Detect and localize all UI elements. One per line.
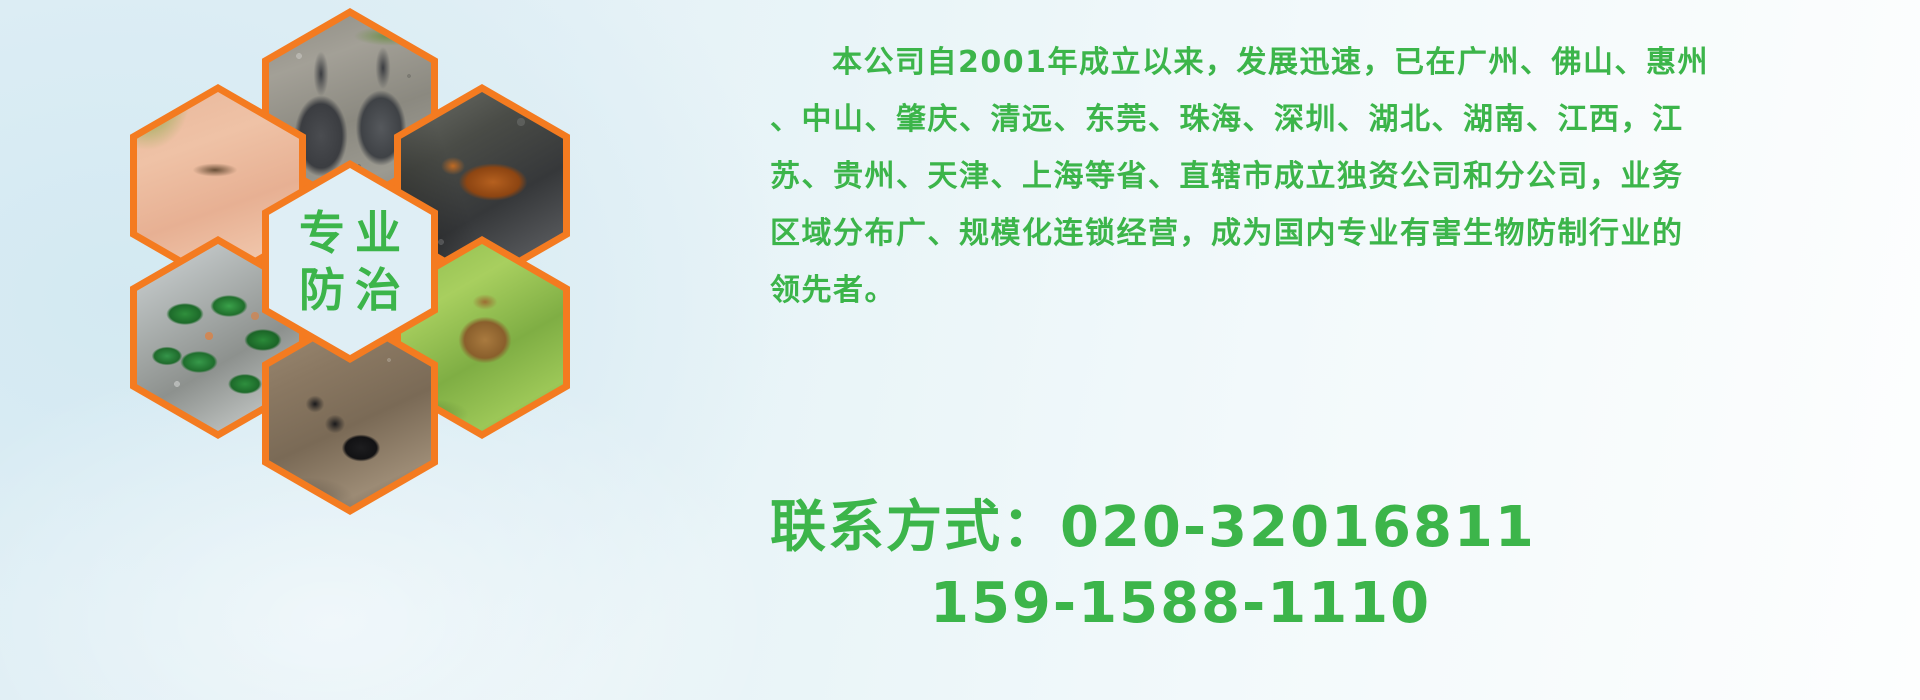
description-line-5: 领先者。 xyxy=(770,262,1880,319)
company-description: 本公司自2001年成立以来，发展迅速，已在广州、佛山、惠州 、中山、肇庆、清远、… xyxy=(770,34,1880,319)
center-label-line-1: 专业 xyxy=(289,209,411,257)
center-label: 专业 防治 xyxy=(269,168,431,355)
center-label-line-2: 防治 xyxy=(289,266,411,314)
contact-phone-secondary[interactable]: 159-1588-1110 xyxy=(770,566,1880,642)
banner-root: 专业 防治 本公司自2001年成立以来，发展迅速，已在广州、佛山、惠州 、中山、… xyxy=(0,0,1920,700)
contact-block: 联系方式：020-32016811 159-1588-1110 xyxy=(770,490,1880,642)
honeycomb-cluster: 专业 防治 xyxy=(84,8,604,553)
description-line-1: 本公司自2001年成立以来，发展迅速，已在广州、佛山、惠州 xyxy=(770,34,1880,91)
description-line-3: 苏、贵州、天津、上海等省、直辖市成立独资公司和分公司，业务 xyxy=(770,148,1880,205)
hex-inner-center: 专业 防治 xyxy=(269,168,431,355)
description-line-2: 、中山、肇庆、清远、东莞、珠海、深圳、湖北、湖南、江西，江 xyxy=(770,91,1880,148)
description-line-4: 区域分布广、规模化连锁经营，成为国内专业有害生物防制行业的 xyxy=(770,205,1880,262)
contact-phone-primary[interactable]: 联系方式：020-32016811 xyxy=(770,490,1880,566)
